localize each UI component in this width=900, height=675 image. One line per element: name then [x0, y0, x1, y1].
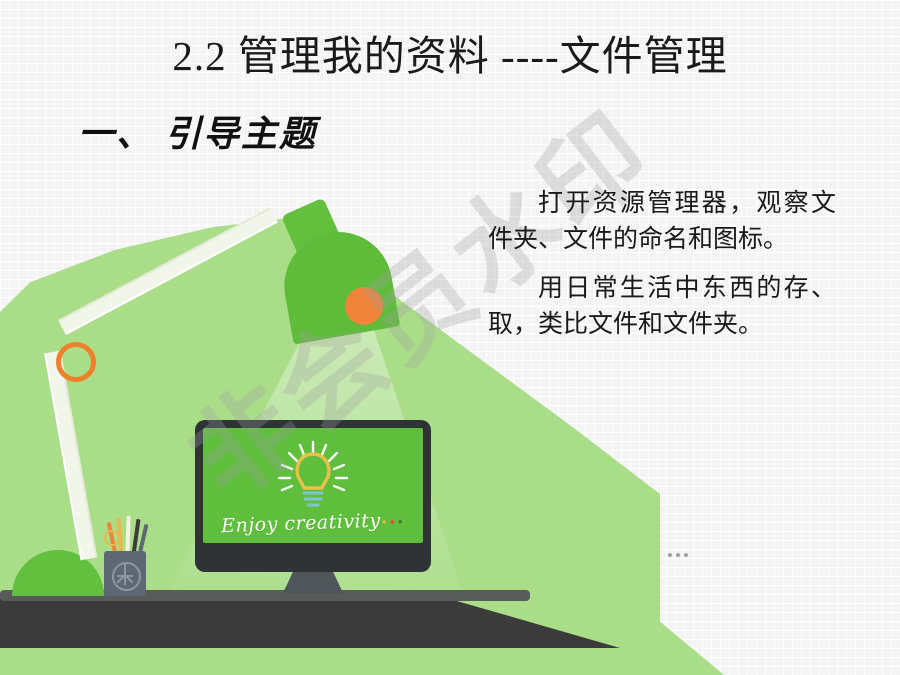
- desk-body: [0, 598, 620, 648]
- pencil-yellow: [116, 518, 123, 554]
- monitor-dot-3: [684, 553, 688, 557]
- lightbulb-icon: [276, 440, 350, 512]
- peace-left-stroke: [117, 574, 126, 583]
- screen-caption-dots: •••: [380, 515, 405, 530]
- monitor-dot-2: [676, 553, 680, 557]
- screen-caption-text: Enjoy creativity: [221, 510, 381, 538]
- slide-subtitle: 一、 引导主题: [78, 105, 317, 157]
- desk-lamp-upper-arm: [58, 207, 278, 335]
- pencil-gray: [138, 524, 149, 555]
- monitor-dot-1: [668, 553, 672, 557]
- peace-right-stroke: [124, 574, 133, 583]
- monitor-indicator-dots: [668, 553, 688, 557]
- desk-lamp-joint-icon: [56, 342, 96, 382]
- monitor-screen-caption: Enjoy creativity•••: [203, 508, 424, 538]
- desk-lamp-base: [12, 550, 104, 596]
- pencil-black: [132, 519, 141, 555]
- pencil-cup: [104, 551, 146, 596]
- monitor-frame: [195, 420, 431, 572]
- desk-lamp-shade: [276, 223, 400, 344]
- desk-lamp-neck: [281, 198, 341, 257]
- desk-lamp-bulb: [345, 287, 383, 325]
- monitor-stand: [283, 570, 343, 593]
- pencil-white: [125, 516, 130, 554]
- peace-symbol-icon: [112, 562, 141, 591]
- lamp-light-beam: [170, 290, 490, 610]
- monitor-screen: [203, 428, 423, 543]
- green-diagonal-shape: [430, 430, 730, 675]
- slide-title: 2.2 管理我的资料 ----文件管理: [0, 22, 900, 82]
- presentation-slide: Enjoy creativity••• 非会员水印 2.2 管理我的资料 ---…: [0, 0, 900, 675]
- desk-edge: [0, 590, 530, 601]
- desk-lamp-lower-arm: [44, 351, 97, 561]
- pencil-orange: [107, 522, 118, 554]
- scissors-icon: [104, 530, 120, 546]
- body-paragraph-2: 用日常生活中东西的存、取，类比文件和文件夹。: [488, 271, 836, 342]
- body-paragraph-1: 打开资源管理器，观察文件夹、文件的命名和图标。: [488, 186, 836, 257]
- slide-body-text: 打开资源管理器，观察文件夹、文件的命名和图标。 用日常生活中东西的存、取，类比文…: [488, 186, 836, 342]
